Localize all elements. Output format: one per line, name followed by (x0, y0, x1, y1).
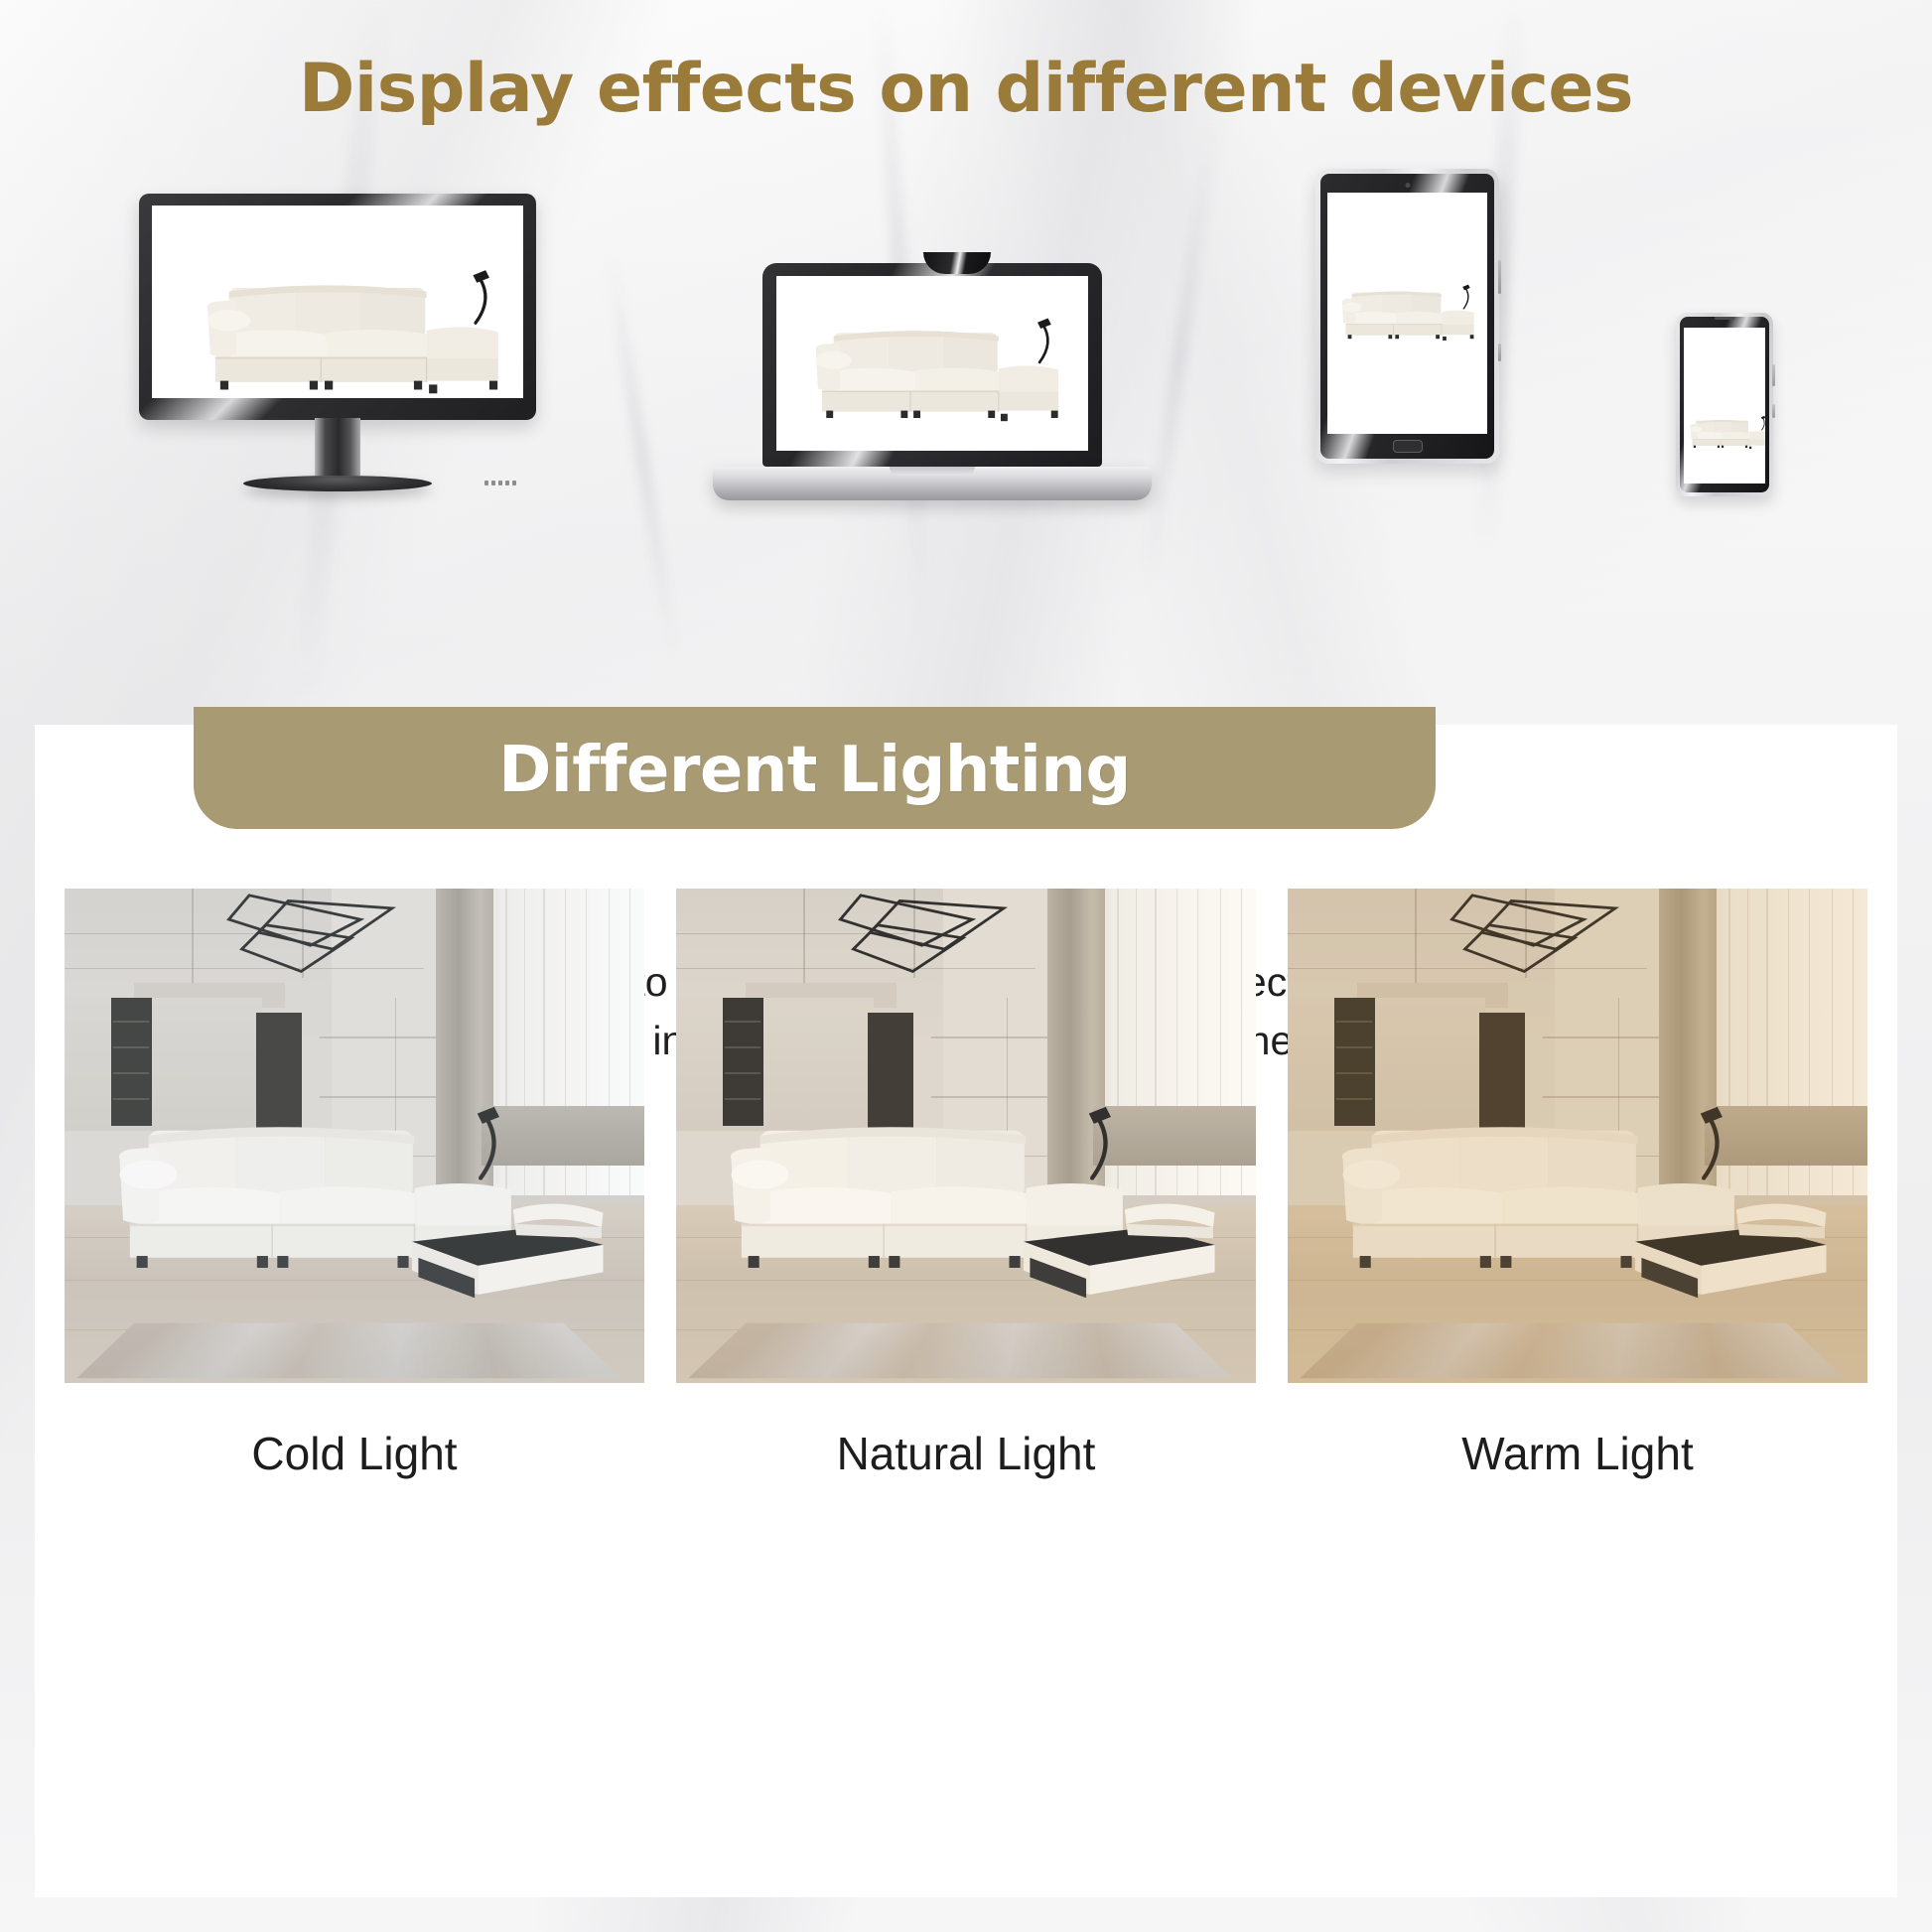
tablet-home-button[interactable] (1393, 440, 1423, 453)
laptop-screen (776, 276, 1088, 451)
laptop-trackpad-notch (890, 467, 975, 476)
phone-screen (1684, 328, 1765, 483)
tablet-volume-button[interactable] (1498, 260, 1501, 294)
tablet-power-button[interactable] (1498, 344, 1501, 361)
tablet-screen (1327, 193, 1487, 434)
laptop-camera-icon (923, 252, 991, 274)
room-photo-natural-light (676, 889, 1256, 1383)
lighting-sample-natural: Natural Light (676, 889, 1256, 1383)
smartphone-mockup (1676, 313, 1773, 496)
lighting-label-natural: Natural Light (676, 1427, 1256, 1480)
sofa-product-image-phone (1684, 413, 1765, 454)
storage-ottoman-open (1612, 1185, 1845, 1313)
lighting-sample-cold: Cold Light (65, 889, 644, 1383)
sofa-product-image-laptop (792, 310, 1066, 436)
sofa-product-image-tablet (1329, 280, 1478, 348)
lighting-section-card: Different Lighting Due to different scre… (35, 725, 1897, 1897)
device-mockups-row (0, 169, 1932, 596)
room-scene (65, 889, 644, 1383)
room-photo-warm-light (1288, 889, 1867, 1383)
page-title: Display effects on different devices (0, 50, 1932, 128)
monitor-stand-base (243, 476, 432, 491)
phone-outer-frame (1676, 313, 1773, 496)
storage-ottoman-open (389, 1185, 621, 1313)
abstract-area-rug (688, 1322, 1233, 1378)
monitor-bezel (139, 194, 536, 420)
monitor-screen (152, 206, 523, 398)
banner-title: Different Lighting (498, 734, 1131, 807)
laptop-mockup (762, 263, 1152, 500)
laptop-lid (762, 263, 1102, 467)
lighting-comparison-row: Cold Light (65, 889, 1867, 1383)
tablet-bezel (1320, 174, 1494, 459)
phone-bezel (1680, 317, 1769, 492)
tablet-mockup (1315, 169, 1499, 464)
phone-power-button[interactable] (1772, 404, 1775, 418)
desktop-monitor-mockup (139, 194, 536, 491)
monitor-indicator-leds (484, 481, 516, 485)
lighting-sample-warm: Warm Light (1288, 889, 1867, 1383)
room-scene (1288, 889, 1867, 1383)
sofa-product-image-monitor (180, 260, 507, 398)
abstract-area-rug (76, 1322, 621, 1378)
monitor-stand-neck (315, 418, 360, 476)
tablet-camera-icon (1405, 183, 1410, 188)
storage-ottoman-open (1001, 1185, 1233, 1313)
laptop-base (713, 467, 1152, 500)
phone-volume-button[interactable] (1772, 364, 1775, 386)
room-scene (676, 889, 1256, 1383)
room-photo-cold-light (65, 889, 644, 1383)
geometric-pendant-light-icon (1445, 889, 1630, 988)
tablet-outer-frame (1315, 169, 1499, 464)
geometric-pendant-light-icon (221, 889, 407, 988)
lighting-label-cold: Cold Light (65, 1427, 644, 1480)
different-lighting-banner: Different Lighting (194, 707, 1436, 829)
phone-speaker-icon (1715, 317, 1734, 320)
lighting-label-warm: Warm Light (1288, 1427, 1867, 1480)
geometric-pendant-light-icon (833, 889, 1019, 988)
